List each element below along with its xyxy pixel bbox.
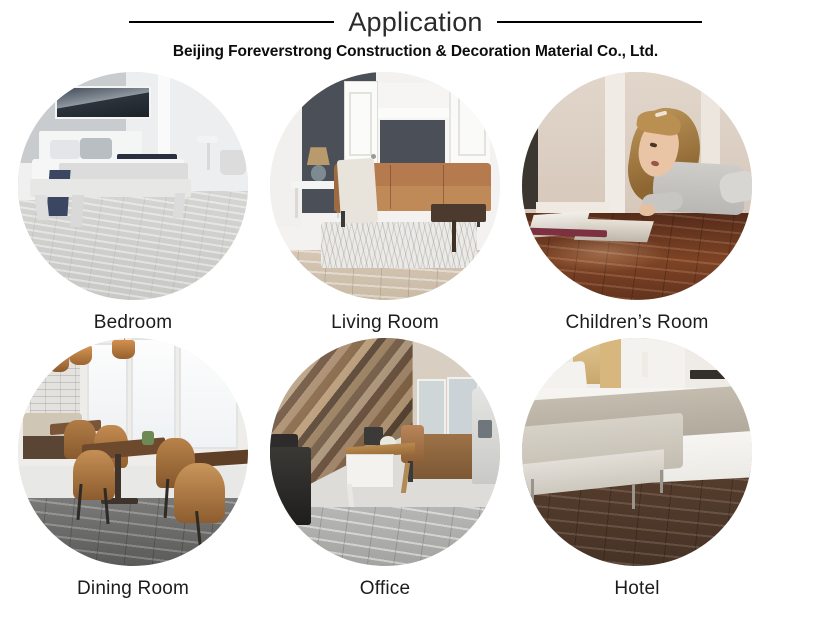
door-casing xyxy=(605,72,626,213)
living-room-image[interactable] xyxy=(270,72,500,300)
title-rule-right-icon xyxy=(497,21,702,23)
coffee-table-leg xyxy=(452,220,457,252)
child-hand xyxy=(639,204,655,215)
gallery-item-bedroom[interactable]: Bedroom xyxy=(7,72,259,334)
bench-leg xyxy=(660,470,663,493)
hotel-scene xyxy=(522,338,752,566)
table-pedestal xyxy=(115,454,122,504)
copper-pendant-lamp xyxy=(69,345,92,366)
desk-pedestal xyxy=(346,454,394,488)
page-header: Application Beijing Foreverstrong Constr… xyxy=(0,0,831,72)
living-room-scene xyxy=(270,72,500,300)
basket xyxy=(220,150,245,175)
window xyxy=(131,338,176,442)
pillow xyxy=(80,138,112,159)
wall-sconce xyxy=(642,352,649,377)
window xyxy=(179,338,238,449)
dark-sofa xyxy=(270,447,311,525)
lamp-shade xyxy=(307,147,330,165)
headboard-panel xyxy=(600,338,621,390)
child-eye xyxy=(649,142,656,147)
application-gallery: Bedroom xyxy=(0,72,831,617)
sofa-leg xyxy=(341,211,344,227)
office-image[interactable] xyxy=(270,338,500,566)
wall-art xyxy=(690,370,727,379)
title-row: Application xyxy=(0,4,831,40)
gallery-label-hotel: Hotel xyxy=(511,578,763,600)
bedroom-image[interactable] xyxy=(18,72,248,300)
bedroom-scene xyxy=(18,72,248,300)
gallery-item-dining-room[interactable]: Dining Room xyxy=(7,338,259,600)
gallery-label-childrens-room: Children’s Room xyxy=(511,312,763,334)
office-scene xyxy=(270,338,500,566)
gallery-label-office: Office xyxy=(259,578,511,600)
door-trim xyxy=(376,108,450,117)
table-plant xyxy=(142,431,154,445)
dining-room-image[interactable] xyxy=(18,338,248,566)
sofa-seam xyxy=(443,165,444,208)
copper-pendant-lamp xyxy=(112,340,135,358)
gallery-item-hotel[interactable]: Hotel xyxy=(511,338,763,600)
dining-chair xyxy=(174,463,225,522)
gallery-item-childrens-room[interactable]: Children’s Room xyxy=(511,72,763,334)
bed-frame xyxy=(30,179,191,197)
side-table xyxy=(197,136,218,143)
side-table-leg xyxy=(207,143,210,170)
gallery-label-bedroom: Bedroom xyxy=(7,312,259,334)
bench-leg xyxy=(632,484,635,509)
gallery-label-dining-room: Dining Room xyxy=(7,578,259,600)
hotel-image[interactable] xyxy=(522,338,752,566)
gallery-item-office[interactable]: Office xyxy=(259,338,511,600)
gallery-item-living-room[interactable]: Living Room xyxy=(259,72,511,334)
copper-pendant-lamp xyxy=(48,354,69,372)
childrens-room-image[interactable] xyxy=(522,72,752,300)
dining-room-scene xyxy=(18,338,248,566)
company-name: Beijing Foreverstrong Construction & Dec… xyxy=(0,43,831,61)
wall-art xyxy=(55,86,151,120)
wall-panel xyxy=(621,338,685,388)
coffee-table xyxy=(431,204,486,222)
application-page: Application Beijing Foreverstrong Constr… xyxy=(0,0,831,617)
page-title: Application xyxy=(348,9,482,36)
bench-leg xyxy=(531,479,534,502)
title-rule-left-icon xyxy=(129,21,334,23)
childrens-room-scene xyxy=(522,72,752,300)
sofa-seam xyxy=(390,165,391,208)
pillow xyxy=(50,140,80,158)
bed-leg xyxy=(70,195,84,227)
dispenser-label xyxy=(478,420,492,438)
console-leg xyxy=(295,188,298,218)
gallery-label-living-room: Living Room xyxy=(259,312,511,334)
dark-corner xyxy=(522,122,538,209)
